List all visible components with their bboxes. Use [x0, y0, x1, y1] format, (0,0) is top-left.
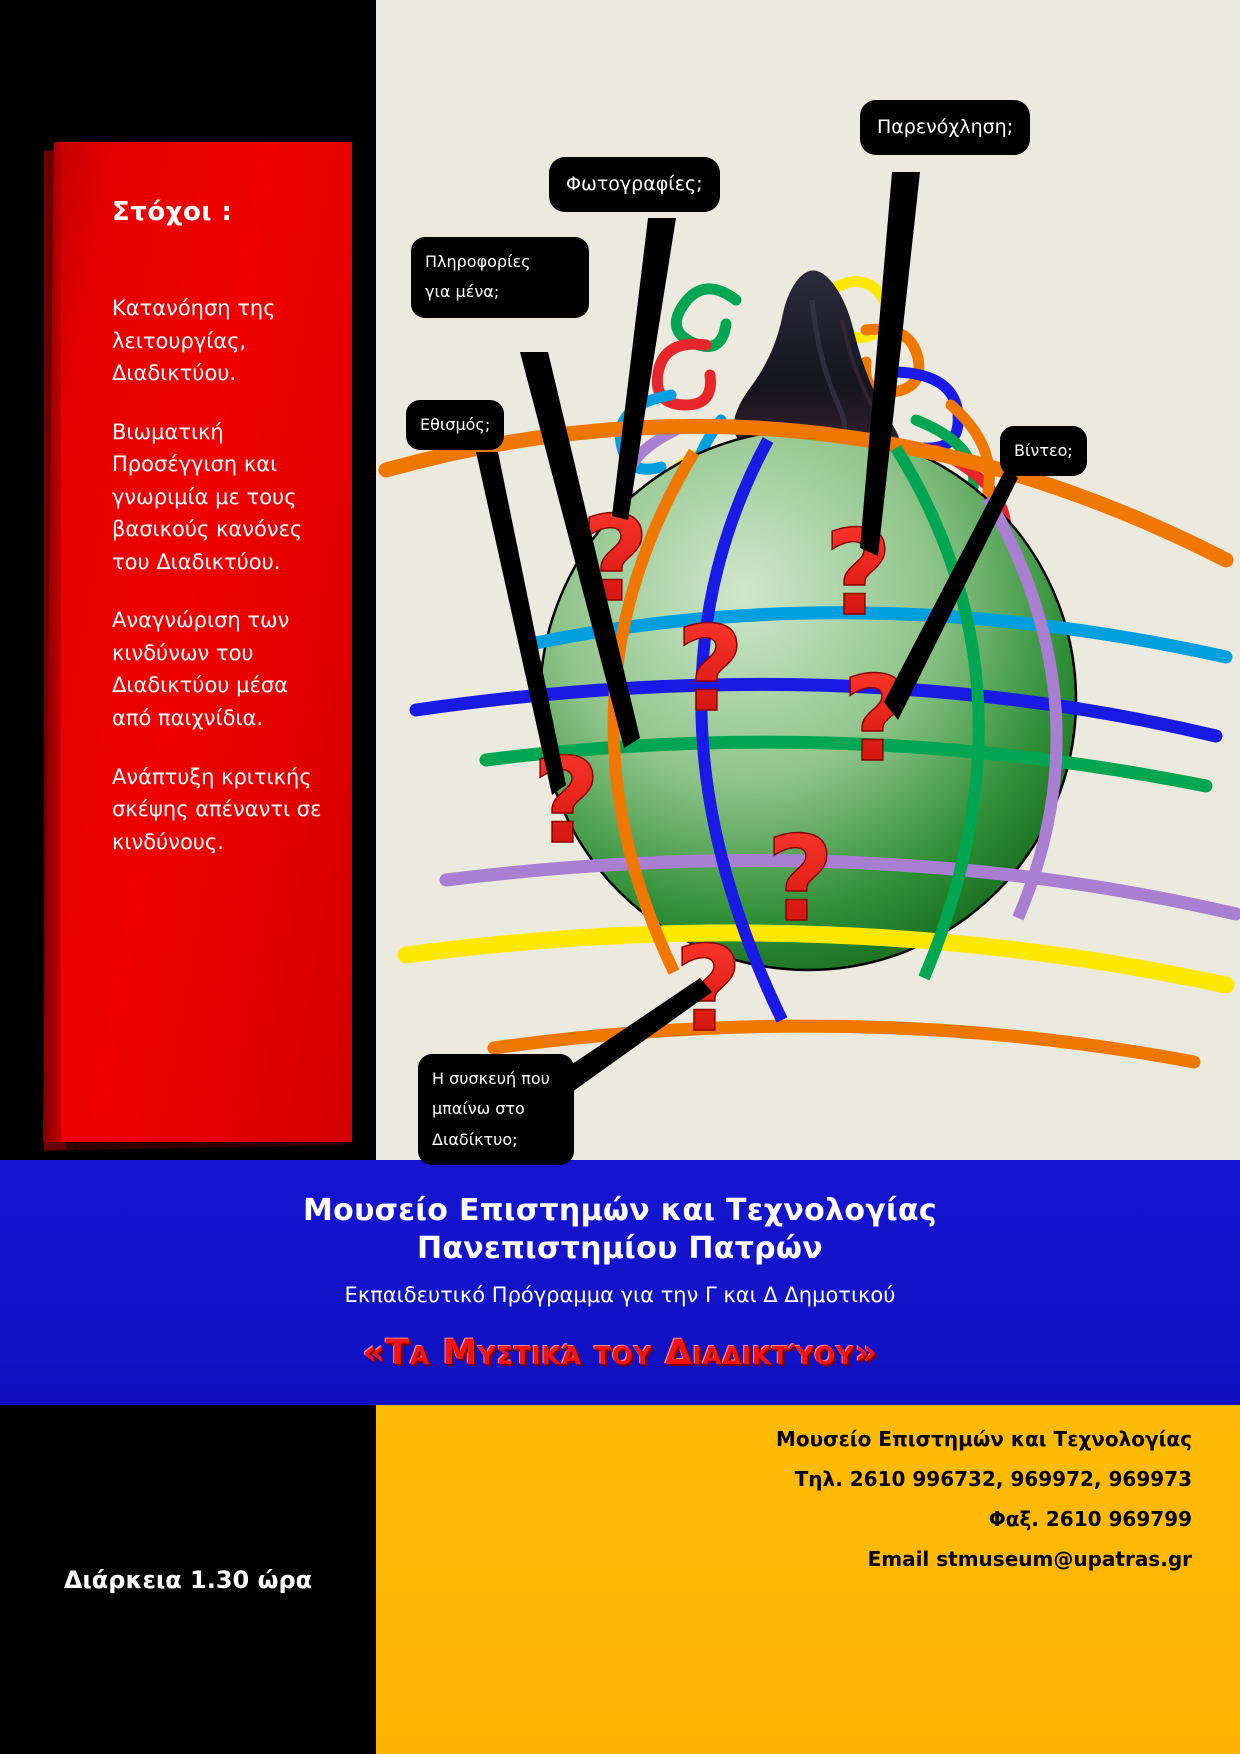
speech-bubble-addiction: Εθισμός; — [406, 400, 504, 450]
program-subtitle: Εκπαιδευτικό Πρόγραμμα για την Γ και Δ Δ… — [0, 1269, 1240, 1307]
objective-item: Κατανόηση της λειτουργίας, Διαδικτύου. — [112, 292, 327, 390]
contact-details: Μουσείο Επιστημών και Τεχνολογίας Τηλ. 2… — [776, 1419, 1192, 1579]
footer: Διάρκεια 1.30 ώρα Μουσείο Επιστημών και … — [0, 1405, 1240, 1754]
globe-illustration: ? ? ? ? ? ? ? — [376, 0, 1240, 1160]
organization-line-1: Μουσείο Επιστημών και Τεχνολογίας — [0, 1192, 1240, 1230]
program-title: «Τα Μυστικά του Διαδικτύου» — [0, 1333, 1240, 1373]
svg-text:?: ? — [842, 650, 910, 788]
objective-item: Ανάπτυξη κριτικής σκέψης απέναντι σε κιν… — [112, 761, 327, 859]
speech-bubble-harassment: Παρενόχληση; — [860, 100, 1030, 155]
svg-text:?: ? — [581, 490, 649, 628]
contact-email[interactable]: Email stmuseum@upatras.gr — [776, 1539, 1192, 1579]
organization-line-2: Πανεπιστημίου Πατρών — [0, 1230, 1240, 1268]
poster: ? ? ? ? ? ? ? — [0, 0, 1240, 1754]
objectives-panel: Στόχοι : Κατανόηση της λειτουργίας, Διαδ… — [60, 142, 352, 1142]
speech-bubble-photos: Φωτογραφίες; — [549, 157, 720, 212]
duration-label: Διάρκεια 1.30 ώρα — [0, 1405, 376, 1754]
contact-phone: Τηλ. 2610 996732, 969972, 969973 — [776, 1459, 1192, 1499]
objective-item: Αναγνώριση των κινδύνων του Διαδικτύου μ… — [112, 604, 327, 734]
contact-fax: Φαξ. 2610 969799 — [776, 1499, 1192, 1539]
svg-text:?: ? — [676, 600, 744, 738]
organization-banner: Μουσείο Επιστημών και Τεχνολογίας Πανεπι… — [0, 1160, 1240, 1405]
svg-text:?: ? — [674, 920, 742, 1058]
objectives-heading: Στόχοι : — [112, 197, 232, 227]
objective-item: Βιωματική Προσέγγιση και γνωριμία με του… — [112, 416, 327, 579]
svg-text:?: ? — [824, 504, 892, 642]
contact-organization: Μουσείο Επιστημών και Τεχνολογίας — [776, 1419, 1192, 1459]
poster-stage: ? ? ? ? ? ? ? — [0, 0, 1240, 1160]
svg-text:?: ? — [766, 810, 834, 948]
objectives-list: Κατανόηση της λειτουργίας, Διαδικτύου. Β… — [112, 292, 327, 884]
contact-box: Μουσείο Επιστημών και Τεχνολογίας Τηλ. 2… — [376, 1405, 1240, 1754]
svg-text:?: ? — [532, 732, 600, 870]
speech-bubble-device: Η συσκευή που μπαίνω στο Διαδίκτυο; — [418, 1054, 574, 1165]
speech-bubble-information: Πληροφορίες για μένα; — [411, 237, 589, 318]
organization-name: Μουσείο Επιστημών και Τεχνολογίας Πανεπι… — [0, 1160, 1240, 1269]
speech-bubble-video: Βίντεο; — [1000, 426, 1087, 476]
